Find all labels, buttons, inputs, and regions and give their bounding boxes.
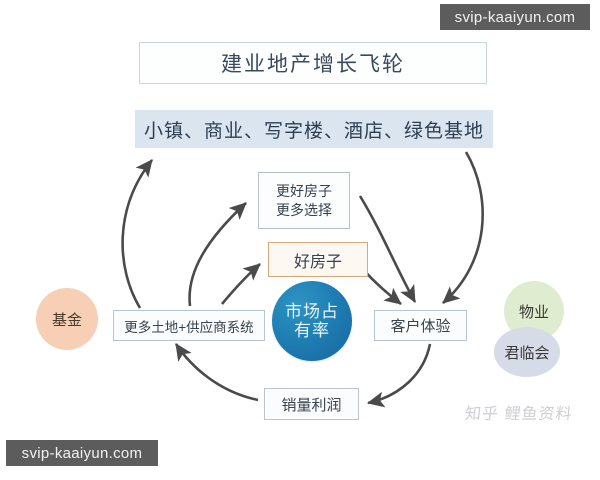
node-label: 好房子 — [294, 248, 342, 272]
product-lines-banner: 小镇、商业、写字楼、酒店、绿色基地 — [135, 110, 493, 148]
center-line-1: 市场占 — [285, 302, 339, 321]
arrow-better-house-to-customer-exp — [360, 196, 415, 302]
arrow-land-to-banner — [123, 160, 152, 308]
watermark-top-right: svip-kaaiyun.com — [440, 4, 590, 30]
arrow-land-to-good-house — [222, 264, 260, 304]
circle-junlinhui-club[interactable]: 君临会 — [494, 327, 560, 377]
node-better-house-more-choice[interactable]: 更好房子 更多选择 — [258, 172, 350, 229]
node-line-1: 更好房子 — [276, 182, 332, 200]
watermark-text: 知乎 鲤鱼资料 — [464, 400, 574, 424]
node-label: 更多土地+供应商系统 — [124, 316, 253, 336]
circle-label: 物业 — [519, 301, 549, 322]
node-market-share[interactable]: 市场占 有率 — [272, 281, 352, 361]
circle-fund[interactable]: 基金 — [36, 288, 98, 350]
node-sales-profit[interactable]: 销量利润 — [264, 388, 359, 420]
circle-label: 君临会 — [504, 342, 549, 363]
arrow-sales-profit-to-land — [176, 344, 258, 400]
node-label: 销量利润 — [281, 394, 341, 415]
center-line-2: 有率 — [294, 321, 330, 340]
watermark-text: svip-kaaiyun.com — [455, 9, 576, 26]
page-title: 建业地产增长飞轮 — [221, 48, 405, 78]
watermark-bottom-left: svip-kaaiyun.com — [6, 440, 158, 466]
node-label: 客户体验 — [390, 315, 450, 336]
watermark-text: svip-kaaiyun.com — [22, 445, 143, 462]
flywheel-diagram: 建业地产增长飞轮 小镇、商业、写字楼、酒店、绿色基地 更好房子 更多选择 — [0, 0, 600, 480]
node-customer-experience[interactable]: 客户体验 — [374, 310, 467, 341]
node-more-land-supplier-system[interactable]: 更多土地+供应商系统 — [113, 310, 265, 341]
node-line-2: 更多选择 — [276, 201, 332, 219]
watermark-zhihu: 知乎 鲤鱼资料 — [457, 400, 582, 424]
banner-label: 小镇、商业、写字楼、酒店、绿色基地 — [144, 116, 484, 143]
arrow-banner-to-customer-exp — [443, 152, 483, 303]
arrow-customer-exp-to-sales-profit — [368, 344, 430, 403]
arrow-land-to-better-house — [190, 203, 246, 306]
node-good-house[interactable]: 好房子 — [268, 242, 368, 277]
diagram-title-box: 建业地产增长飞轮 — [139, 42, 487, 84]
circle-label: 基金 — [52, 309, 82, 330]
